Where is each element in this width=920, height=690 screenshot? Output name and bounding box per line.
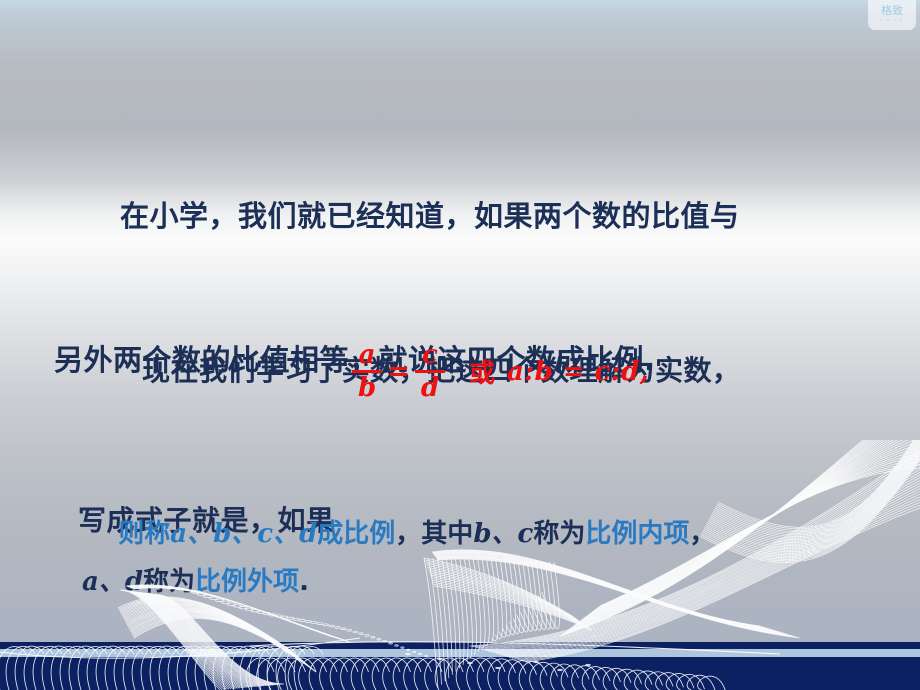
- term-outer-terms: 比例外项: [195, 567, 299, 597]
- footer-band-navy-top: [0, 642, 920, 649]
- or-conjunction: 或: [445, 353, 507, 390]
- ratio-notation: a:b = c:d,: [507, 357, 649, 387]
- equals-sign: =: [382, 356, 415, 387]
- definition-vars-ad: a、d: [82, 567, 143, 597]
- watermark-subtext: • • • •: [880, 17, 903, 25]
- definition-block: 则称a、b、c、d成比例，其中b、c称为比例内项，a、d称为比例外项.: [82, 462, 882, 654]
- proportion-formula: a b = c d 或 a:b = c:d,: [352, 340, 649, 403]
- presentation-slide: 格致 • • • • 在小学，我们就已经知道，如果两个数的比值与 另外两个数的比…: [0, 0, 920, 690]
- fraction-denominator-b: b: [352, 373, 382, 403]
- definition-called-one: 称为: [533, 519, 585, 549]
- definition-called-two: 称为: [143, 567, 195, 597]
- definition-vars-bc: b、c: [473, 519, 533, 549]
- fraction-numerator-c: c: [416, 340, 444, 370]
- definition-vars-abcd: a、b、c、d: [170, 519, 317, 549]
- paragraph-one-line-one: 在小学，我们就已经知道，如果两个数的比值与: [54, 192, 874, 240]
- fraction-a-over-b: a b: [352, 340, 382, 403]
- definition-period: .: [299, 567, 309, 597]
- fraction-c-over-d: c d: [415, 340, 445, 403]
- watermark-logo: 格致 • • • •: [868, 0, 916, 30]
- definition-prefix: 则称: [118, 519, 170, 549]
- definition-comma-among: ，其中: [395, 519, 473, 549]
- term-inner-terms: 比例内项: [585, 519, 689, 549]
- definition-proportion-word: 成比例: [317, 519, 395, 549]
- definition-comma-end: ，: [689, 519, 715, 549]
- watermark-text: 格致: [881, 5, 903, 17]
- footer-band-lightblue: [0, 649, 920, 657]
- footer-band-navy-main: [0, 657, 920, 690]
- fraction-denominator-d: d: [415, 373, 445, 403]
- fraction-numerator-a: a: [353, 340, 382, 370]
